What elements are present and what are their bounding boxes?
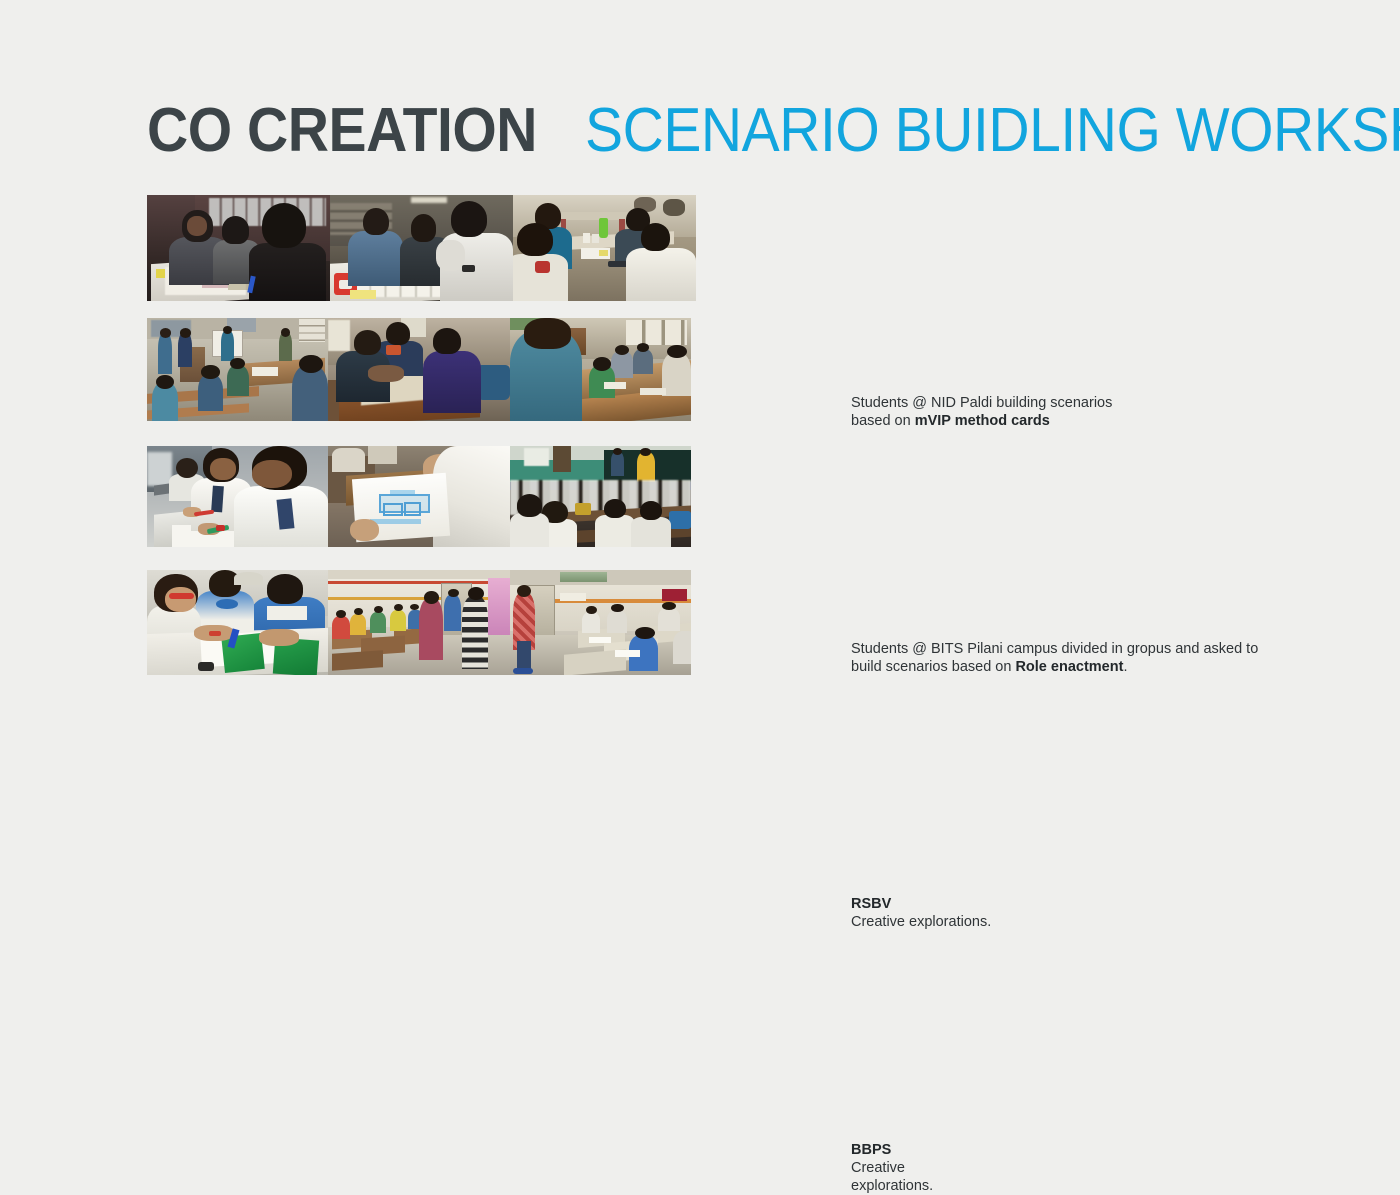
nid-paldi-group-session <box>513 195 696 301</box>
bbps-facilitators <box>328 570 509 675</box>
caption-line-2-prefix: build scenarios based on <box>851 659 1015 675</box>
photo-strip <box>147 570 691 675</box>
caption-lead: BBPS <box>851 1141 1271 1159</box>
rsbv-boys-writing <box>147 446 328 547</box>
photo-strip <box>147 318 691 421</box>
rsbv-classroom <box>510 446 691 547</box>
caption-line-1: Creative explorations. <box>851 914 991 930</box>
caption-nid-paldi: Students @ NID Paldi building scenarios … <box>851 394 1271 430</box>
caption-line-1: Students @ BITS Pilani campus divided in… <box>851 641 1258 657</box>
caption-bits-pilani: Students @ BITS Pilani campus divided in… <box>851 640 1271 676</box>
caption-rsbv: RSBV Creative explorations. <box>851 895 1271 931</box>
caption-body: Creative explorations. <box>851 1159 941 1195</box>
content-rows: Students @ NID Paldi building scenarios … <box>0 0 1400 788</box>
caption-line-1: Students @ NID Paldi building scenarios <box>851 395 1112 411</box>
nid-paldi-discussion-table <box>147 195 330 301</box>
caption-line-2-bold: Role enactment <box>1015 659 1123 675</box>
slide-canvas: CO CREATIONSCENARIO BUIDLING WORKSHOPS <box>0 0 1400 788</box>
caption-line-2: explorations. <box>851 1178 933 1194</box>
bits-pilani-group-desk <box>328 318 509 421</box>
caption-bbps: BBPS Creative explorations. <box>851 1141 1271 1195</box>
bits-pilani-presentation <box>147 318 328 421</box>
caption-lead: RSBV <box>851 895 1271 913</box>
nid-paldi-method-cards <box>330 195 513 301</box>
caption-line-2-prefix: based on <box>851 413 915 429</box>
bbps-classroom-rows <box>510 570 691 675</box>
bbps-kids-drawing <box>147 570 328 675</box>
bits-pilani-over-shoulder <box>510 318 691 421</box>
caption-line-1: Creative <box>851 1160 905 1176</box>
caption-line-2-bold: mVIP method cards <box>915 413 1050 429</box>
caption-line-2-suffix: . <box>1123 659 1127 675</box>
rsbv-sketch-sheet <box>328 446 509 547</box>
photo-strip <box>147 446 691 547</box>
photo-strip <box>147 195 696 301</box>
